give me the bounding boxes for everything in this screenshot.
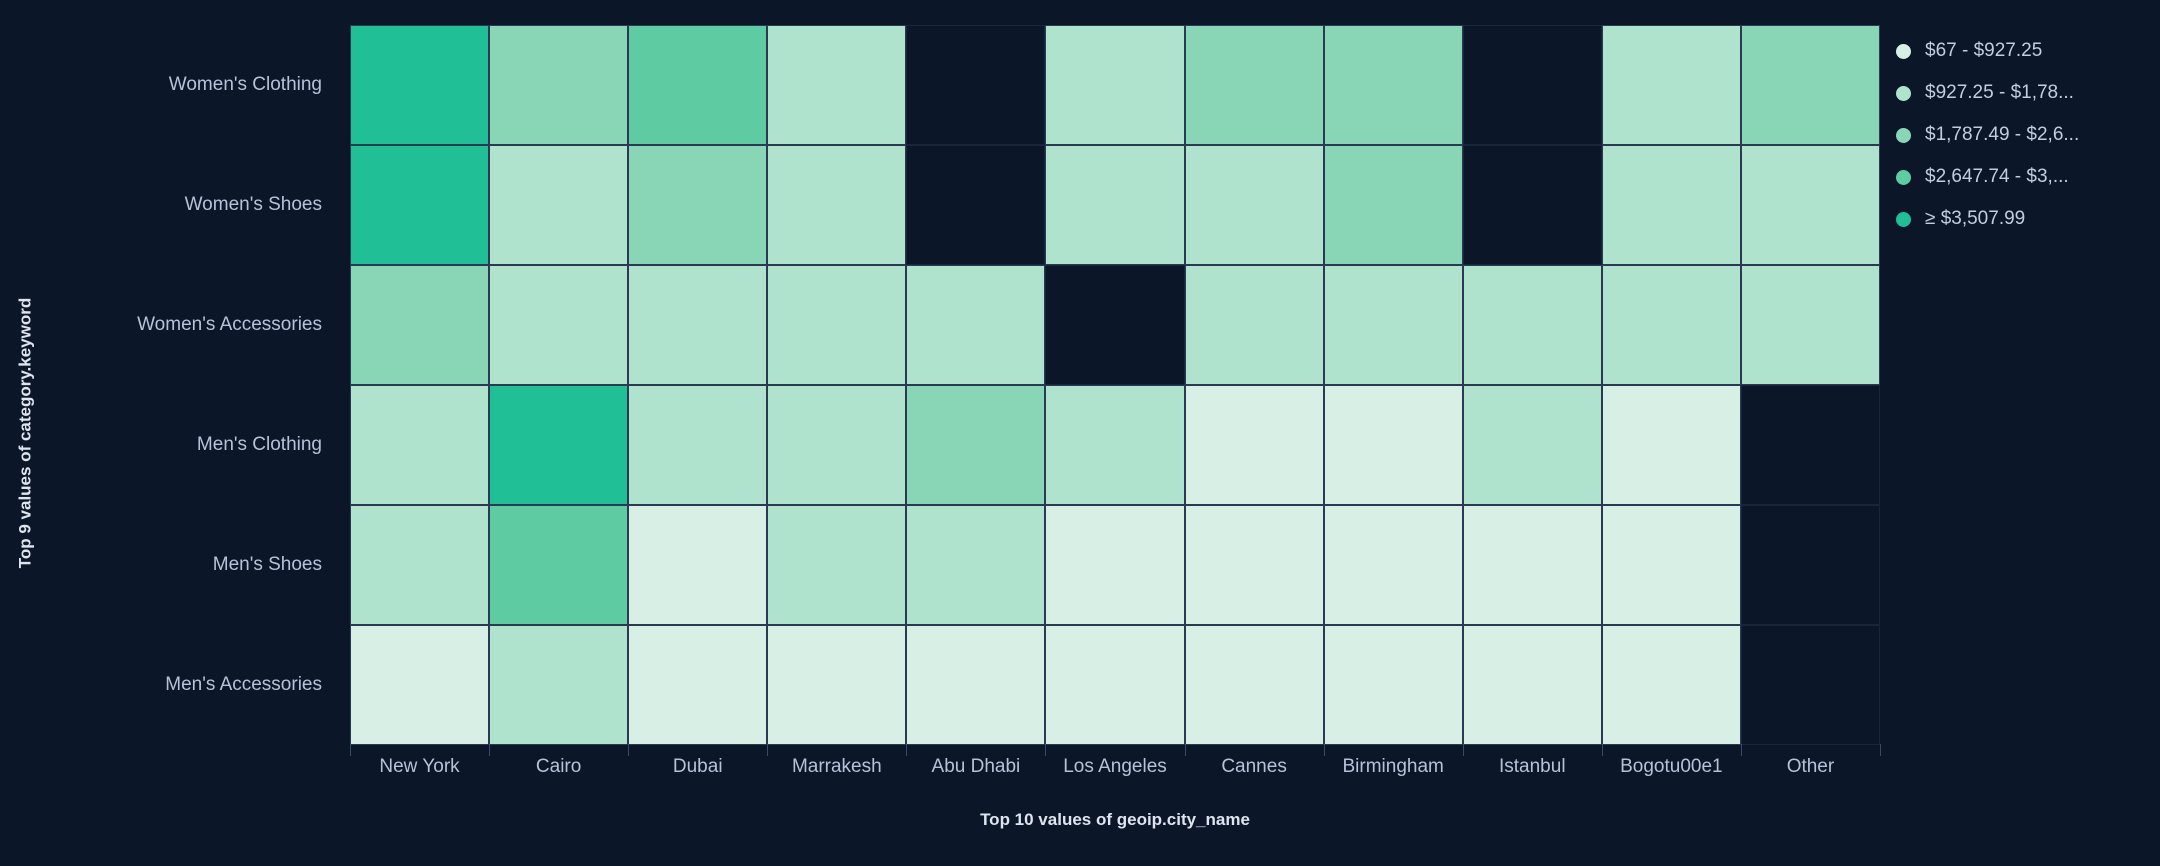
heatmap-cell[interactable]: [628, 385, 767, 505]
heatmap-visualization: Top 9 values of category.keyword Women's…: [0, 0, 2160, 866]
heatmap-cell[interactable]: [1045, 625, 1184, 745]
x-axis-tick-mark: [1463, 744, 1464, 756]
heatmap-cell[interactable]: [1463, 385, 1602, 505]
heatmap-cell[interactable]: [1045, 25, 1184, 145]
heatmap-cell[interactable]: [1463, 145, 1602, 265]
heatmap-cell[interactable]: [350, 145, 489, 265]
heatmap-cell[interactable]: [489, 265, 628, 385]
x-axis-tick-label: Abu Dhabi: [932, 756, 1021, 778]
x-axis-tick-mark: [1602, 744, 1603, 756]
x-axis-tick-mark: [1324, 744, 1325, 756]
heatmap-cell[interactable]: [489, 385, 628, 505]
x-axis-title: Top 10 values of geoip.city_name: [350, 810, 1880, 830]
heatmap-cell[interactable]: [628, 625, 767, 745]
y-axis-tick-label: Women's Shoes: [185, 194, 322, 216]
legend-item[interactable]: $2,647.74 - $3,...: [1896, 156, 2146, 198]
heatmap-cell[interactable]: [1185, 25, 1324, 145]
heatmap-cell[interactable]: [489, 25, 628, 145]
heatmap-cell[interactable]: [1602, 265, 1741, 385]
x-axis-tick-mark: [1185, 744, 1186, 756]
heatmap-cell[interactable]: [1045, 265, 1184, 385]
heatmap-cell[interactable]: [1045, 145, 1184, 265]
y-axis-tick-label: Women's Accessories: [137, 314, 322, 336]
heatmap-cell[interactable]: [1463, 25, 1602, 145]
heatmap-cell[interactable]: [1602, 625, 1741, 745]
heatmap-cell[interactable]: [1741, 145, 1880, 265]
heatmap-cell[interactable]: [1463, 505, 1602, 625]
heatmap-cell[interactable]: [1324, 265, 1463, 385]
heatmap-cell[interactable]: [350, 25, 489, 145]
heatmap-cell[interactable]: [628, 145, 767, 265]
x-axis-tick-mark: [489, 744, 490, 756]
heatmap-cell[interactable]: [906, 265, 1045, 385]
legend-swatch-icon: [1896, 128, 1911, 143]
heatmap-cell[interactable]: [1741, 265, 1880, 385]
y-axis-tick-label: Men's Accessories: [165, 674, 322, 696]
heatmap-cell[interactable]: [489, 505, 628, 625]
heatmap-cell[interactable]: [1602, 25, 1741, 145]
legend-item[interactable]: $1,787.49 - $2,6...: [1896, 114, 2146, 156]
x-axis-tick-label: Other: [1787, 756, 1835, 778]
heatmap-cell[interactable]: [350, 265, 489, 385]
legend-swatch-icon: [1896, 170, 1911, 185]
heatmap-cell[interactable]: [1045, 505, 1184, 625]
heatmap-cell[interactable]: [350, 385, 489, 505]
heatmap-cell[interactable]: [767, 265, 906, 385]
heatmap-cell[interactable]: [1741, 25, 1880, 145]
heatmap-cell[interactable]: [1741, 385, 1880, 505]
y-axis-title: Top 9 values of category.keyword: [8, 0, 42, 866]
x-axis-tick-mark: [767, 744, 768, 756]
heatmap-cell[interactable]: [350, 505, 489, 625]
heatmap-cell[interactable]: [1463, 265, 1602, 385]
heatmap-cell[interactable]: [628, 505, 767, 625]
x-axis-tick-mark: [1880, 744, 1881, 756]
heatmap-cell[interactable]: [1324, 505, 1463, 625]
legend-item[interactable]: $67 - $927.25: [1896, 30, 2146, 72]
x-axis-tick-label: Birmingham: [1342, 756, 1443, 778]
heatmap-cell[interactable]: [767, 385, 906, 505]
legend-swatch-icon: [1896, 86, 1911, 101]
legend-item-label: $1,787.49 - $2,6...: [1925, 124, 2079, 146]
x-axis-tick-label: Dubai: [673, 756, 723, 778]
heatmap-cell[interactable]: [1324, 625, 1463, 745]
heatmap-cell[interactable]: [1602, 145, 1741, 265]
heatmap-cell[interactable]: [489, 625, 628, 745]
heatmap-cell[interactable]: [1185, 265, 1324, 385]
heatmap-cell[interactable]: [767, 145, 906, 265]
heatmap-cell[interactable]: [1741, 625, 1880, 745]
x-axis-tick-label: Cairo: [536, 756, 581, 778]
heatmap-cell[interactable]: [906, 25, 1045, 145]
heatmap-cell[interactable]: [767, 505, 906, 625]
heatmap-cell[interactable]: [628, 265, 767, 385]
x-axis-tick-label: Los Angeles: [1063, 756, 1167, 778]
x-axis-tick-mark: [1045, 744, 1046, 756]
legend-item[interactable]: $927.25 - $1,78...: [1896, 72, 2146, 114]
heatmap-cell[interactable]: [1324, 25, 1463, 145]
heatmap-cell[interactable]: [1463, 625, 1602, 745]
heatmap-cell[interactable]: [350, 625, 489, 745]
heatmap-cell[interactable]: [767, 625, 906, 745]
x-axis-tick-label: Marrakesh: [792, 756, 882, 778]
y-axis-tick-label: Men's Clothing: [197, 434, 322, 456]
legend-item-label: $2,647.74 - $3,...: [1925, 166, 2069, 188]
x-axis-tick-label: Bogotu00e1: [1620, 756, 1723, 778]
heatmap-cell[interactable]: [1741, 505, 1880, 625]
x-axis-tick-mark: [350, 744, 351, 756]
x-axis-tick-label: Cannes: [1221, 756, 1287, 778]
heatmap-cell[interactable]: [1602, 505, 1741, 625]
heatmap-cell[interactable]: [1324, 385, 1463, 505]
heatmap-cell[interactable]: [1324, 145, 1463, 265]
heatmap-cell[interactable]: [1185, 505, 1324, 625]
legend-swatch-icon: [1896, 212, 1911, 227]
legend-swatch-icon: [1896, 44, 1911, 59]
legend-item-label: $67 - $927.25: [1925, 40, 2042, 62]
x-axis-tick-labels: New YorkCairoDubaiMarrakeshAbu DhabiLos …: [350, 756, 1880, 796]
heatmap-cell[interactable]: [1185, 145, 1324, 265]
legend-item-label: ≥ $3,507.99: [1925, 208, 2025, 230]
x-axis-tick-mark: [906, 744, 907, 756]
legend-item-label: $927.25 - $1,78...: [1925, 82, 2074, 104]
heatmap-cell[interactable]: [1185, 625, 1324, 745]
x-axis-tick-mark: [628, 744, 629, 756]
heatmap-grid[interactable]: [350, 25, 1880, 745]
heatmap-cell[interactable]: [906, 505, 1045, 625]
heatmap-cell[interactable]: [767, 25, 906, 145]
heatmap-cell[interactable]: [1045, 385, 1184, 505]
y-axis-tick-label: Men's Shoes: [213, 554, 322, 576]
heatmap-cell[interactable]: [628, 25, 767, 145]
y-axis-tick-label: Women's Clothing: [169, 74, 322, 96]
y-axis-title-text: Top 9 values of category.keyword: [15, 298, 35, 569]
legend[interactable]: $67 - $927.25$927.25 - $1,78...$1,787.49…: [1896, 30, 2146, 240]
heatmap-cell[interactable]: [489, 145, 628, 265]
heatmap-cell[interactable]: [1602, 385, 1741, 505]
heatmap-cell[interactable]: [906, 145, 1045, 265]
heatmap-cell[interactable]: [1185, 385, 1324, 505]
y-axis-tick-labels: Women's ClothingWomen's ShoesWomen's Acc…: [40, 25, 336, 745]
x-axis-tick-mark: [1741, 744, 1742, 756]
x-axis-tick-label: Istanbul: [1499, 756, 1566, 778]
heatmap-cell[interactable]: [906, 625, 1045, 745]
legend-item[interactable]: ≥ $3,507.99: [1896, 198, 2146, 240]
x-axis-tick-label: New York: [379, 756, 459, 778]
heatmap-cell[interactable]: [906, 385, 1045, 505]
